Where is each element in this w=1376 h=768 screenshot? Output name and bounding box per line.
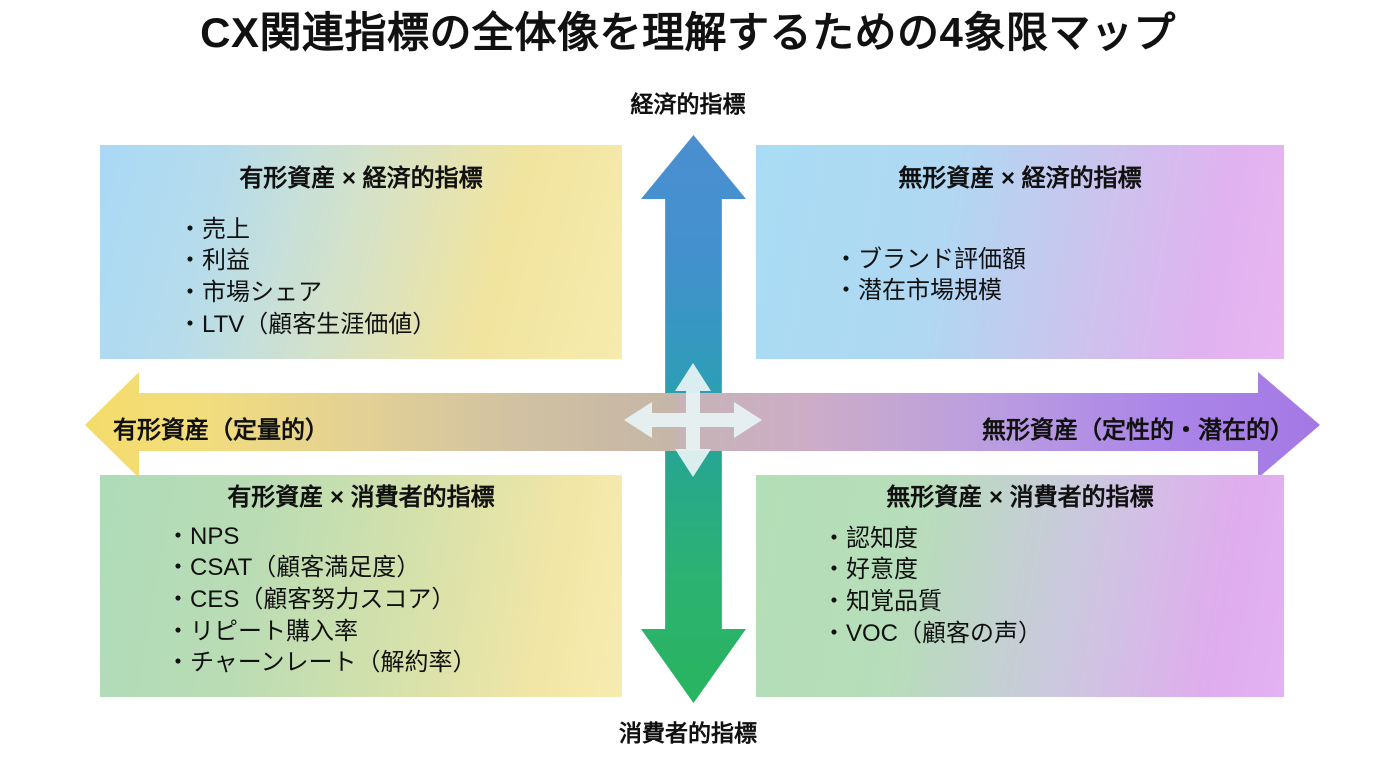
quadrant-intangible-consumer: 無形資産 × 消費者的指標 認知度好意度知覚品質VOC（顧客の声） <box>756 475 1284 697</box>
quadrant-tangible-consumer: 有形資産 × 消費者的指標 NPSCSAT（顧客満足度）CES（顧客努力スコア）… <box>100 475 622 697</box>
quadrant-item-list: NPSCSAT（顧客満足度）CES（顧客努力スコア）リピート購入率チャーンレート… <box>166 521 622 679</box>
quadrant-item-list: ブランド評価額潜在市場規模 <box>834 244 1284 307</box>
axis-label-intangible: 無形資産（定性的・潜在的） <box>982 410 1294 445</box>
list-item: 利益 <box>178 245 622 277</box>
list-item: 潜在市場規模 <box>834 275 1284 307</box>
list-item: VOC（顧客の声） <box>822 618 1284 650</box>
quadrant-title: 無形資産 × 消費者的指標 <box>756 484 1284 513</box>
quadrant-map-canvas: CX関連指標の全体像を理解するための4象限マップ 経済的指標 有形資産（定量的）… <box>0 0 1376 768</box>
list-item: 知覚品質 <box>822 586 1284 618</box>
quadrant-intangible-economic: 無形資産 × 経済的指標 ブランド評価額潜在市場規模 <box>756 145 1284 359</box>
axis-label-economic: 経済的指標 <box>538 85 838 119</box>
list-item: CES（顧客努力スコア） <box>166 584 622 616</box>
quadrant-item-list: 売上利益市場シェアLTV（顧客生涯価値） <box>178 214 622 341</box>
list-item: チャーンレート（解約率） <box>166 647 622 679</box>
list-item: NPS <box>166 521 622 553</box>
list-item: LTV（顧客生涯価値） <box>178 309 622 341</box>
quadrant-title: 有形資産 × 経済的指標 <box>100 165 622 194</box>
quadrant-item-list: 認知度好意度知覚品質VOC（顧客の声） <box>822 523 1284 650</box>
list-item: 市場シェア <box>178 277 622 309</box>
list-item: CSAT（顧客満足度） <box>166 552 622 584</box>
list-item: ブランド評価額 <box>834 244 1284 276</box>
page-title: CX関連指標の全体像を理解するための4象限マップ <box>0 8 1376 58</box>
arrow-left-icon: 有形資産（定量的） <box>85 372 710 478</box>
arrow-right-icon: 無形資産（定性的・潜在的） <box>676 372 1320 478</box>
axis-label-tangible: 有形資産（定量的） <box>113 410 329 445</box>
quadrant-title: 無形資産 × 経済的指標 <box>756 165 1284 194</box>
quadrant-title: 有形資産 × 消費者的指標 <box>100 484 622 513</box>
list-item: 認知度 <box>822 523 1284 555</box>
list-item: 売上 <box>178 214 622 246</box>
quadrant-tangible-economic: 有形資産 × 経済的指標 売上利益市場シェアLTV（顧客生涯価値） <box>100 145 622 359</box>
axis-label-consumer: 消費者的指標 <box>538 714 838 748</box>
list-item: リピート購入率 <box>166 616 622 648</box>
list-item: 好意度 <box>822 554 1284 586</box>
